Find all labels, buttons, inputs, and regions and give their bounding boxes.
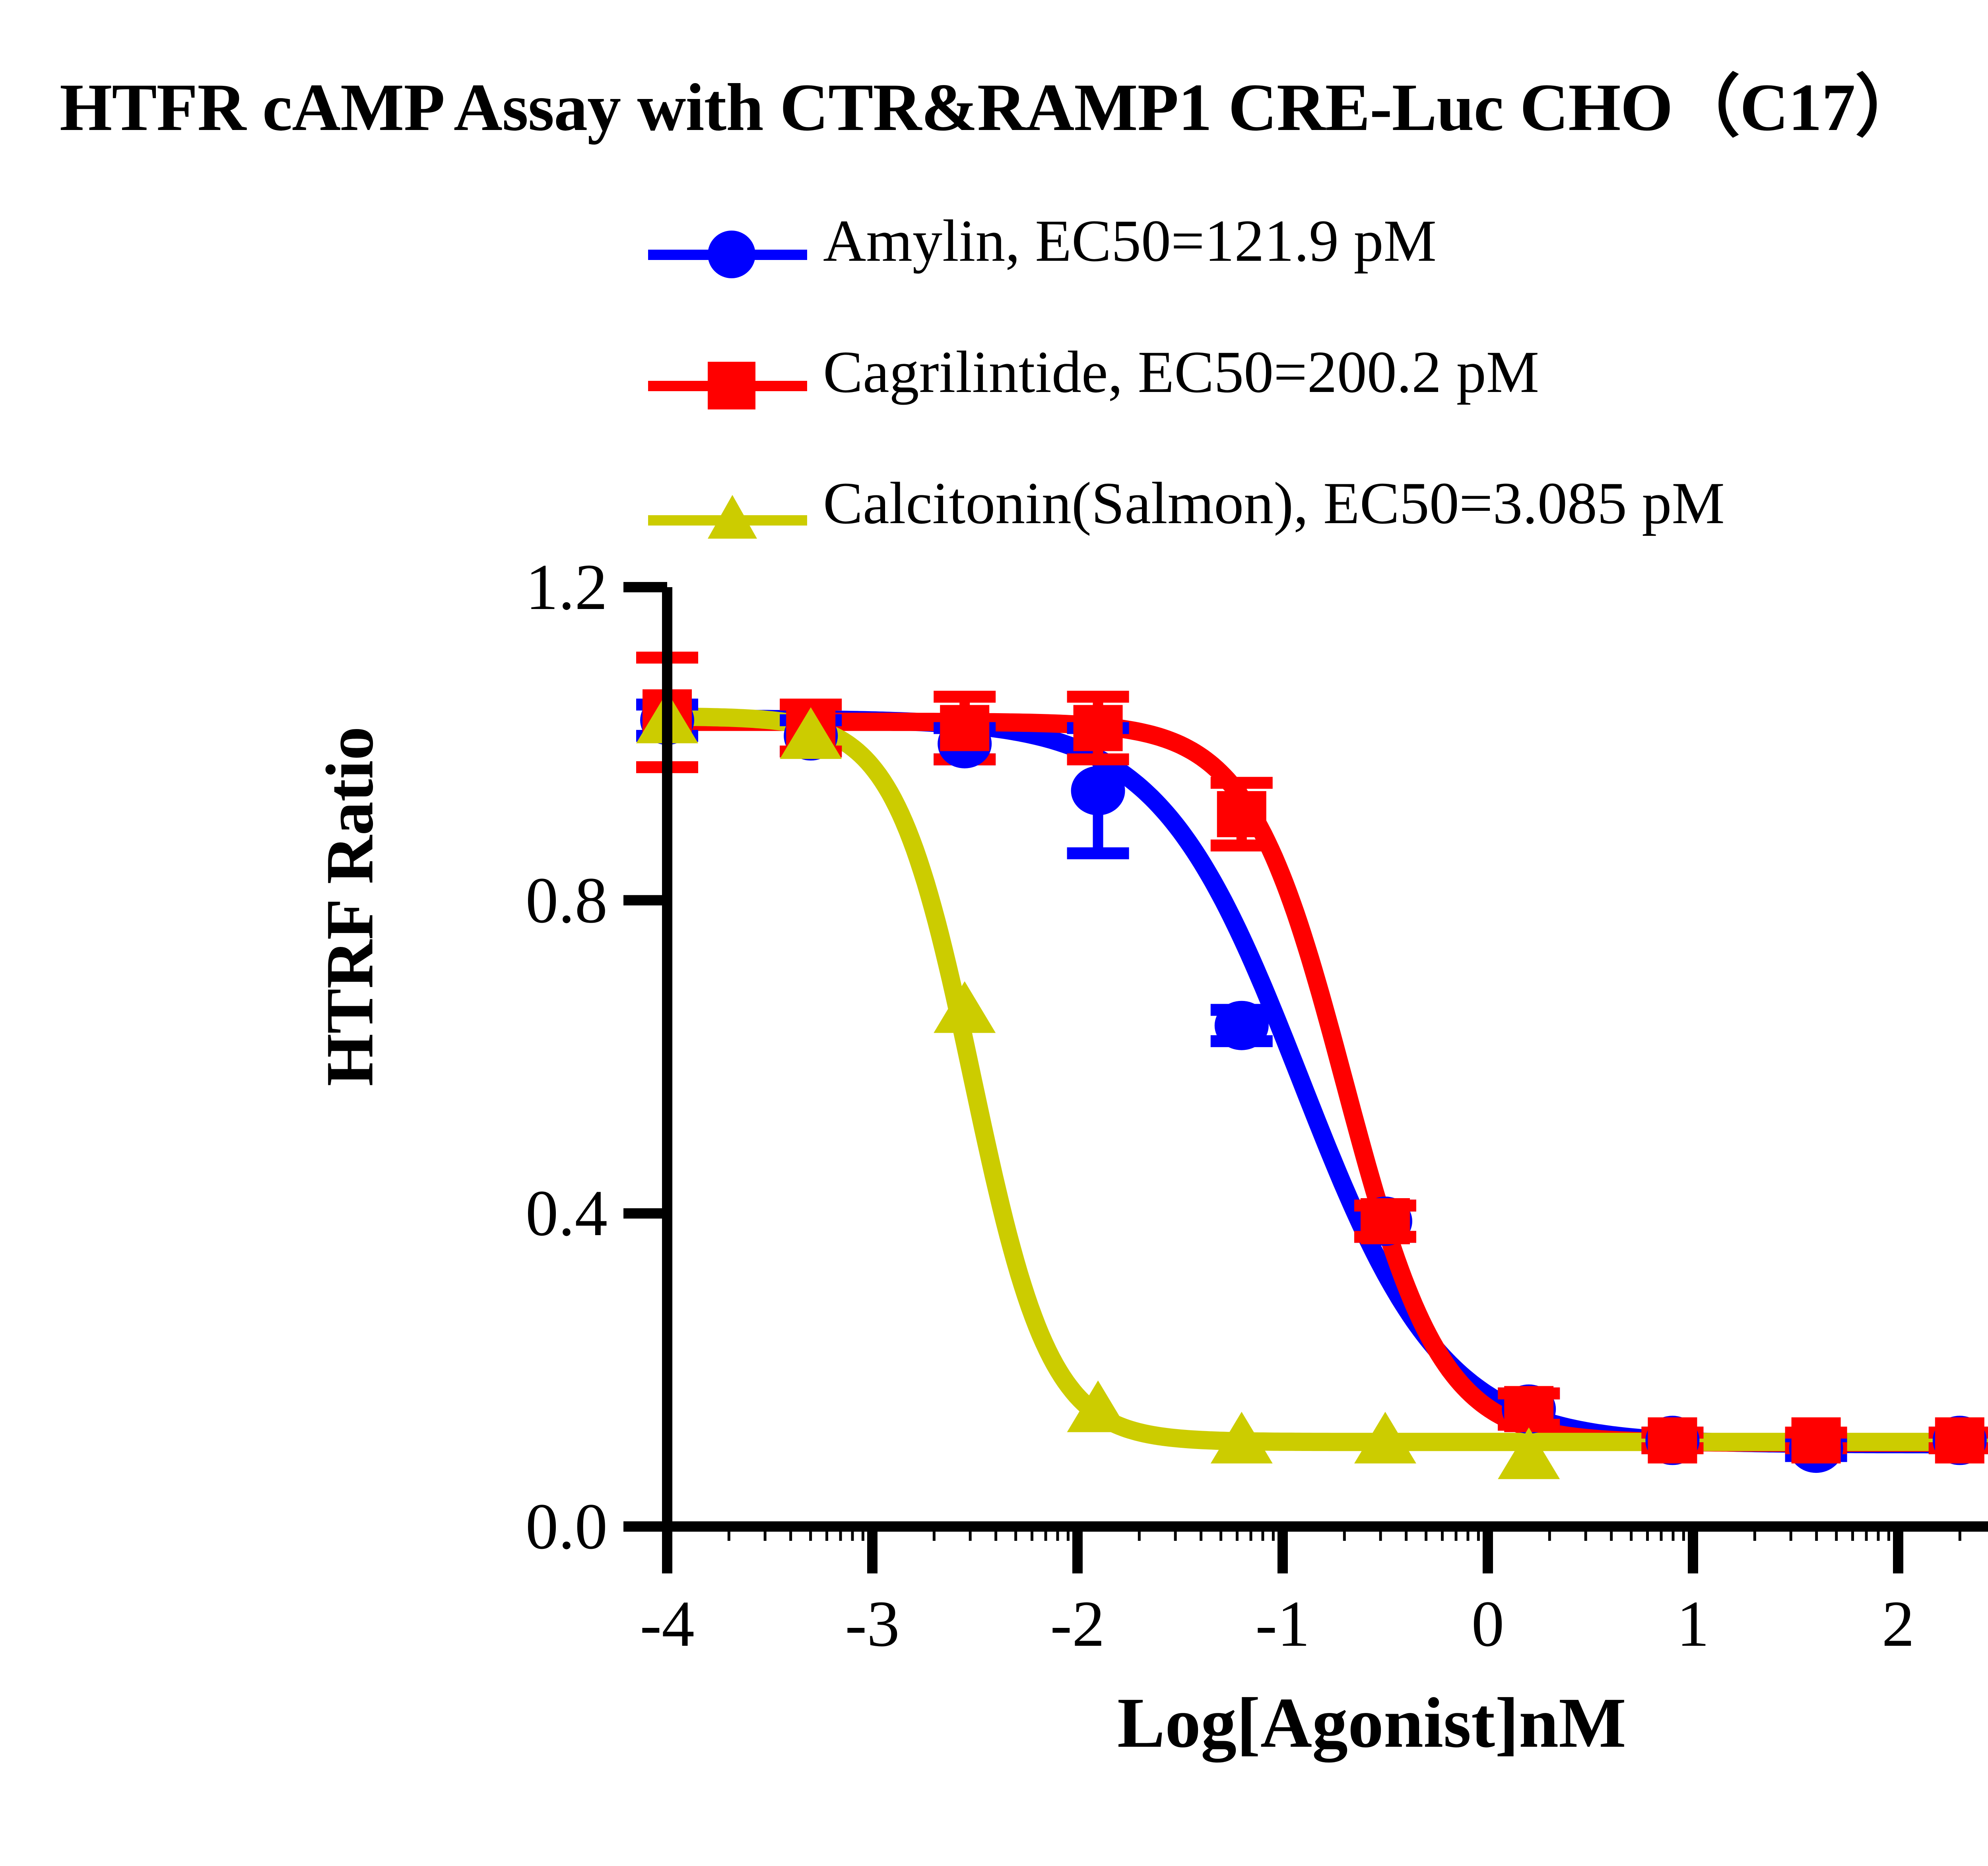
- y-axis-label: HTRF Ratio: [311, 726, 389, 1086]
- x-tick-label: -1: [1255, 1586, 1310, 1662]
- x-tick-label: -2: [1050, 1586, 1105, 1662]
- y-tick-label: 0.4: [526, 1175, 608, 1251]
- y-tick-label: 1.2: [526, 549, 608, 625]
- x-tick-label: -4: [640, 1586, 694, 1662]
- y-tick-label: 0.8: [526, 863, 608, 938]
- x-tick-label: 0: [1472, 1586, 1505, 1662]
- chart-figure: HTFR cAMP Assay with CTR&RAMP1 CRE-Luc C…: [0, 0, 1988, 1866]
- x-tick-label: 2: [1882, 1586, 1915, 1662]
- x-tick-label: 1: [1677, 1586, 1710, 1662]
- x-axis-label: Log[Agonist]nM: [1117, 1682, 1626, 1764]
- x-tick-label: -3: [845, 1586, 899, 1662]
- y-tick-label: 0.0: [526, 1489, 608, 1564]
